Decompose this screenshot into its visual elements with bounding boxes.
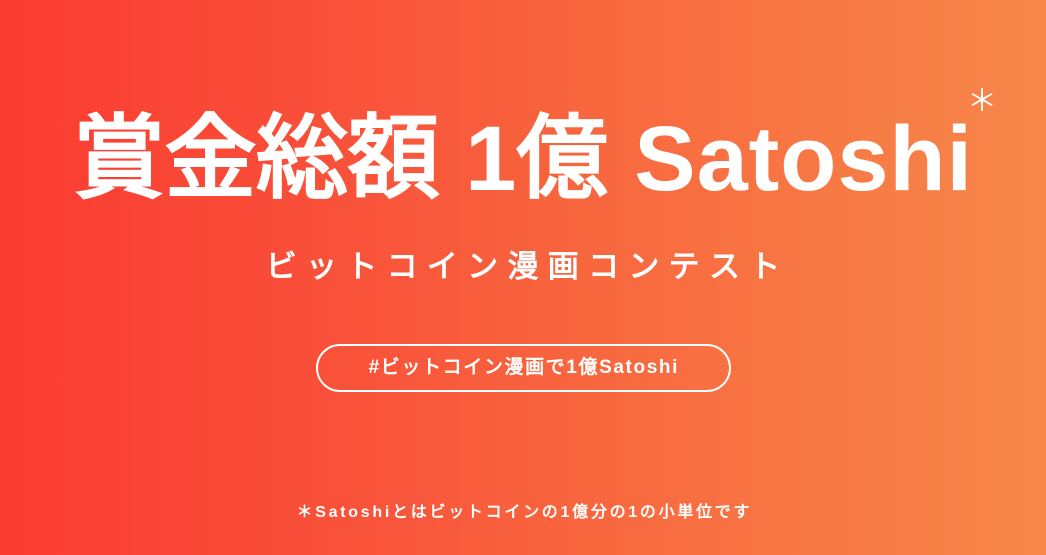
hashtag-pill-label: #ビットコイン漫画で1億Satoshi — [367, 358, 679, 377]
campaign-banner: 賞金総額1億Satoshi ＊ ビットコイン漫画コンテスト #ビットコイン漫画で… — [0, 0, 1046, 555]
headline-prize-label: 賞金総額 — [73, 108, 439, 210]
page-title: 賞金総額1億Satoshi — [73, 113, 973, 205]
hashtag-pill-button[interactable]: #ビットコイン漫画で1億Satoshi — [316, 344, 731, 392]
footnote-text: ＊Satoshiとはビットコインの1億分の1の小単位です — [0, 505, 1046, 521]
headline-container: 賞金総額1億Satoshi ＊ — [73, 104, 973, 214]
page-subtitle: ビットコイン漫画コンテスト — [256, 251, 789, 282]
headline-unit: Satoshi — [634, 108, 973, 210]
headline-amount: 1億 — [465, 108, 608, 210]
asterisk-icon: ＊ — [967, 87, 997, 117]
